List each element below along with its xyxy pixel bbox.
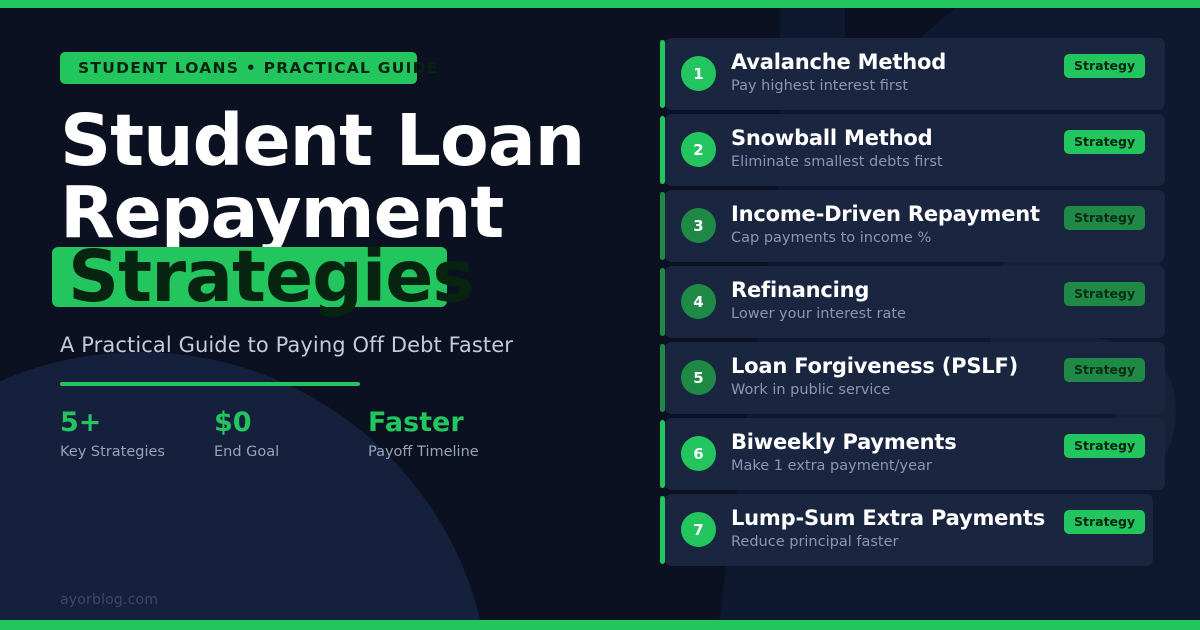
status-badge: Strategy [1064,434,1145,458]
status-badge: Strategy [1064,130,1145,154]
list-item-number: 2 [681,132,716,167]
list-item[interactable]: 1 Avalanche Method Pay highest interest … [660,38,1160,110]
stat-value: 5+ [60,408,165,438]
list-item-subtitle: Reduce principal faster [731,534,898,550]
title-highlight-wrap: Strategies [60,247,620,311]
list-item-number: 5 [681,360,716,395]
list-item-number: 4 [681,284,716,319]
list-item-accent-bar [660,192,665,260]
divider-rule [60,382,360,386]
list-item[interactable]: 7 Lump-Sum Extra Payments Reduce princip… [660,494,1160,566]
strategy-list: 1 Avalanche Method Pay highest interest … [660,38,1160,570]
list-item[interactable]: 6 Biweekly Payments Make 1 extra payment… [660,418,1160,490]
list-item[interactable]: 5 Loan Forgiveness (PSLF) Work in public… [660,342,1160,414]
list-item-subtitle: Make 1 extra payment/year [731,458,932,474]
stats-row: 5+ Key Strategies $0 End Goal Faster Pay… [60,408,620,468]
list-item[interactable]: 2 Snowball Method Eliminate smallest deb… [660,114,1160,186]
bottom-accent-bar [0,620,1200,630]
title-highlight-text: Strategies [68,241,474,313]
list-item-accent-bar [660,116,665,184]
list-item[interactable]: 3 Income-Driven Repayment Cap payments t… [660,190,1160,262]
list-item-number: 1 [681,56,716,91]
stat-label: Payoff Timeline [368,444,479,460]
infographic-canvas: S STUDENT LOANS • PRACTICAL GUIDE Studen… [0,0,1200,630]
list-item-number: 7 [681,512,716,547]
list-item-subtitle: Eliminate smallest debts first [731,154,943,170]
status-badge: Strategy [1064,54,1145,78]
list-item-title: Income-Driven Repayment [731,202,1040,226]
list-item[interactable]: 4 Refinancing Lower your interest rate S… [660,266,1160,338]
stat-label: Key Strategies [60,444,165,460]
status-badge: Strategy [1064,206,1145,230]
status-badge: Strategy [1064,282,1145,306]
stat-item: 5+ Key Strategies [60,408,165,460]
list-item-number: 6 [681,436,716,471]
list-item-accent-bar [660,496,665,564]
list-item-title: Biweekly Payments [731,430,957,454]
page-subtitle: A Practical Guide to Paying Off Debt Fas… [60,333,620,357]
list-item-title: Loan Forgiveness (PSLF) [731,354,1018,378]
list-item-title: Avalanche Method [731,50,946,74]
list-item-title: Refinancing [731,278,869,302]
list-item-number: 3 [681,208,716,243]
page-title: Student Loan Repayment Strategies [60,105,620,311]
title-line-1: Student Loan [60,105,620,177]
top-accent-bar [0,0,1200,8]
list-item-subtitle: Pay highest interest first [731,78,908,94]
list-item-subtitle: Cap payments to income % [731,230,931,246]
status-badge: Strategy [1064,510,1145,534]
stat-value: Faster [368,408,479,438]
kicker-label: STUDENT LOANS • PRACTICAL GUIDE [78,59,439,77]
stat-item: $0 End Goal [214,408,279,460]
list-item-title: Lump-Sum Extra Payments [731,506,1045,530]
footer-site-name: ayorblog.com [60,592,158,608]
list-item-accent-bar [660,40,665,108]
list-item-accent-bar [660,420,665,488]
kicker-badge: STUDENT LOANS • PRACTICAL GUIDE [60,52,417,84]
list-item-subtitle: Lower your interest rate [731,306,906,322]
stat-label: End Goal [214,444,279,460]
list-item-accent-bar [660,344,665,412]
hero-column: STUDENT LOANS • PRACTICAL GUIDE Student … [60,52,620,468]
stat-item: Faster Payoff Timeline [368,408,479,460]
status-badge: Strategy [1064,358,1145,382]
list-item-subtitle: Work in public service [731,382,890,398]
stat-value: $0 [214,408,279,438]
list-item-title: Snowball Method [731,126,932,150]
list-item-accent-bar [660,268,665,336]
